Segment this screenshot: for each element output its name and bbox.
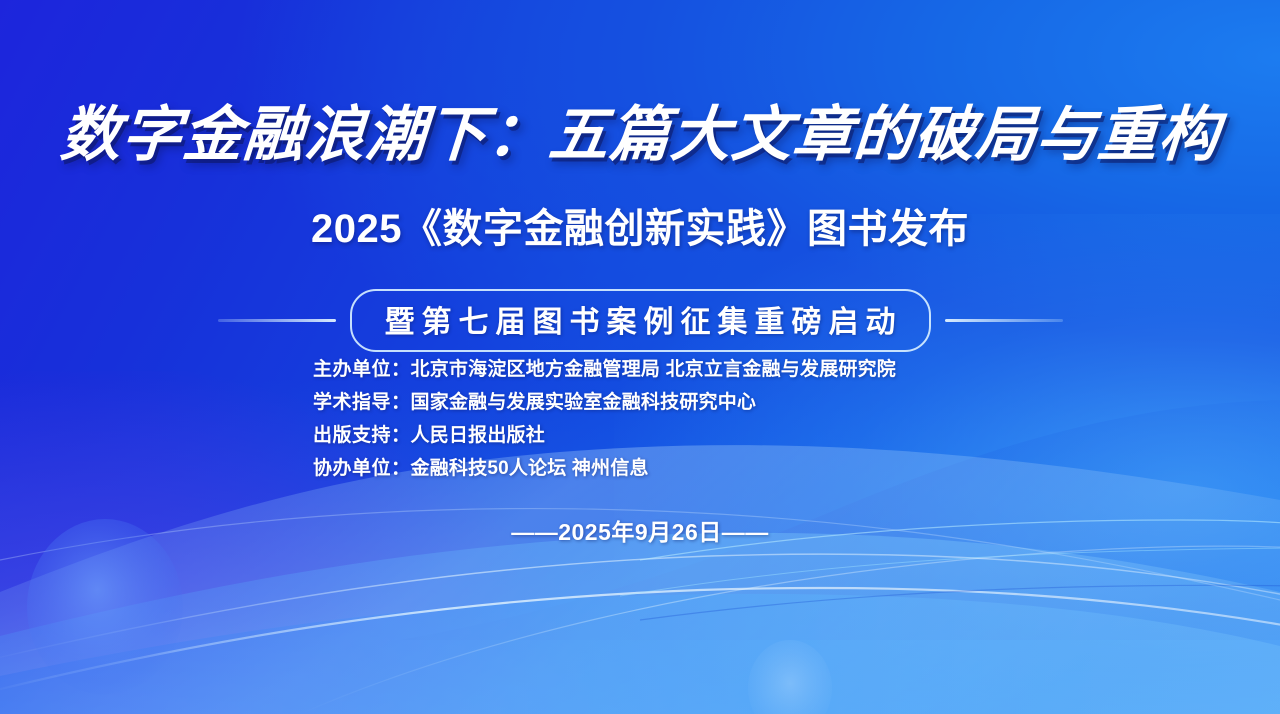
organizer-row-coorganizer: 协办单位：金融科技50人论坛 神州信息 — [313, 452, 896, 485]
event-poster: 数字金融浪潮下：五篇大文章的破局与重构 2025《数字金融创新实践》图书发布 暨… — [0, 0, 1280, 714]
page-subtitle: 2025《数字金融创新实践》图书发布 — [0, 207, 1280, 251]
tagline-rule-right — [945, 319, 1063, 322]
tagline-badge: 暨第七届图书案例征集重磅启动 — [350, 289, 931, 352]
event-date-row: ——2025年9月26日—— — [0, 513, 1280, 547]
organizer-label: 学术指导： — [313, 392, 411, 413]
organizer-row-host: 主办单位：北京市海淀区地方金融管理局 北京立言金融与发展研究院 — [313, 353, 896, 386]
organizer-label: 协办单位： — [313, 458, 411, 479]
tagline-rule-left — [218, 319, 336, 322]
organizer-row-publisher: 出版支持：人民日报出版社 — [313, 419, 896, 452]
organizer-value: 金融科技50人论坛 神州信息 — [411, 458, 649, 479]
poster-content: 数字金融浪潮下：五篇大文章的破局与重构 2025《数字金融创新实践》图书发布 暨… — [0, 0, 1280, 714]
tagline-row: 暨第七届图书案例征集重磅启动 — [0, 289, 1280, 352]
event-date: ——2025年9月26日—— — [511, 513, 769, 547]
organizer-value: 人民日报出版社 — [411, 425, 545, 446]
organizer-row-academic: 学术指导：国家金融与发展实验室金融科技研究中心 — [313, 386, 896, 419]
organizer-value: 北京市海淀区地方金融管理局 北京立言金融与发展研究院 — [411, 359, 896, 380]
organizer-value: 国家金融与发展实验室金融科技研究中心 — [411, 392, 757, 413]
organizer-label: 主办单位： — [313, 359, 411, 380]
organizer-label: 出版支持： — [313, 425, 411, 446]
page-title: 数字金融浪潮下：五篇大文章的破局与重构 — [0, 104, 1280, 167]
organizer-list: 主办单位：北京市海淀区地方金融管理局 北京立言金融与发展研究院 学术指导：国家金… — [313, 353, 896, 485]
